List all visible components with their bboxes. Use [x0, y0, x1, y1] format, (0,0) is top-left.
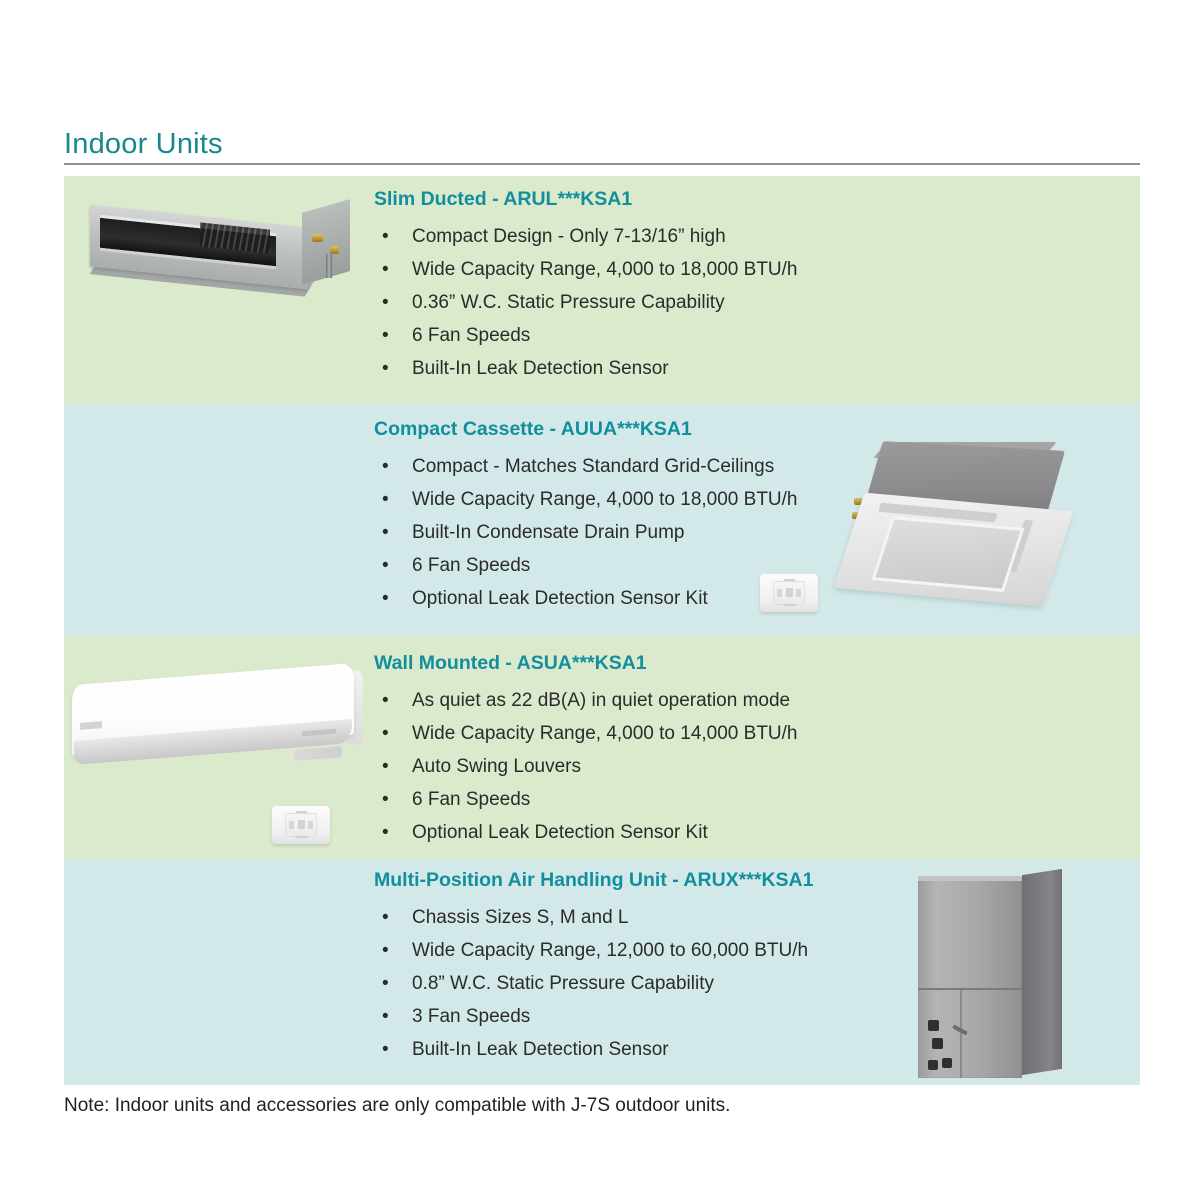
sensor-grille: [308, 821, 313, 829]
ducted-pipe: [326, 254, 332, 278]
bullet-icon: •: [382, 717, 389, 750]
handler-knockout: [928, 1020, 939, 1031]
section-content-slim-ducted: Slim Ducted - ARUL***KSA1 •Compact Desig…: [374, 188, 1074, 385]
feature-text: Wide Capacity Range, 4,000 to 14,000 BTU…: [412, 723, 798, 744]
sensor-grille: [289, 821, 294, 829]
compatibility-note: Note: Indoor units and accessories are o…: [64, 1095, 730, 1117]
handler-knockout: [928, 1060, 938, 1070]
leak-detection-sensor-kit-image: [760, 574, 818, 612]
feature-text: 3 Fan Speeds: [412, 1006, 530, 1027]
handler-knockout: [942, 1058, 952, 1068]
handler-door-edge: [960, 990, 962, 1078]
feature-text: Chassis Sizes S, M and L: [412, 907, 628, 928]
sensor-grille: [298, 820, 305, 829]
list-item: •Compact Design - Only 7-13/16” high: [374, 220, 1074, 253]
bullet-icon: •: [382, 253, 389, 286]
bullet-icon: •: [382, 1000, 389, 1033]
bullet-icon: •: [382, 582, 389, 615]
list-item: •Auto Swing Louvers: [374, 750, 1074, 783]
indoor-units-page: Indoor Units Slim Ducted - ARUL***KSA1 •…: [0, 0, 1200, 1200]
bullet-icon: •: [382, 816, 389, 849]
feature-list: •Compact Design - Only 7-13/16” high •Wi…: [374, 220, 1074, 385]
feature-text: 6 Fan Speeds: [412, 789, 530, 810]
air-handler-unit-image: [912, 870, 1087, 1085]
section-content-wall-mounted: Wall Mounted - ASUA***KSA1 •As quiet as …: [374, 652, 1074, 849]
list-item: •As quiet as 22 dB(A) in quiet operation…: [374, 684, 1074, 717]
bullet-icon: •: [382, 286, 389, 319]
handler-side-panel: [1022, 869, 1062, 1075]
feature-text: Compact Design - Only 7-13/16” high: [412, 226, 726, 247]
feature-text: Built-In Leak Detection Sensor: [412, 1039, 669, 1060]
cassette-panel-center: [872, 516, 1025, 592]
list-item: •6 Fan Speeds: [374, 783, 1074, 816]
bullet-icon: •: [382, 967, 389, 1000]
bullet-icon: •: [382, 450, 389, 483]
ducted-valve-icon: [330, 246, 339, 254]
bullet-icon: •: [382, 750, 389, 783]
sensor-vent: [295, 836, 308, 838]
list-item: •Built-In Leak Detection Sensor: [374, 352, 1074, 385]
feature-text: Wide Capacity Range, 4,000 to 18,000 BTU…: [412, 489, 798, 510]
list-item: •6 Fan Speeds: [374, 319, 1074, 352]
wall-mounted-unit-image: [66, 668, 371, 783]
feature-text: 0.36” W.C. Static Pressure Capability: [412, 292, 725, 313]
feature-text: As quiet as 22 dB(A) in quiet operation …: [412, 690, 790, 711]
sensor-grille: [786, 588, 793, 597]
feature-text: 6 Fan Speeds: [412, 555, 530, 576]
handler-seam: [918, 988, 1022, 990]
list-item: •0.36” W.C. Static Pressure Capability: [374, 286, 1074, 319]
feature-list: •As quiet as 22 dB(A) in quiet operation…: [374, 684, 1074, 849]
feature-text: 6 Fan Speeds: [412, 325, 530, 346]
section-title: Slim Ducted - ARUL***KSA1: [374, 188, 1074, 211]
bullet-icon: •: [382, 901, 389, 934]
bullet-icon: •: [382, 549, 389, 582]
feature-text: Optional Leak Detection Sensor Kit: [412, 588, 708, 609]
sensor-vent: [783, 604, 796, 606]
bullet-icon: •: [382, 352, 389, 385]
handler-knockout: [932, 1038, 943, 1049]
bullet-icon: •: [382, 783, 389, 816]
bullet-icon: •: [382, 483, 389, 516]
feature-text: Wide Capacity Range, 4,000 to 18,000 BTU…: [412, 259, 798, 280]
sensor-grille: [796, 589, 801, 597]
bullet-icon: •: [382, 1033, 389, 1066]
list-item: •Wide Capacity Range, 4,000 to 14,000 BT…: [374, 717, 1074, 750]
bullet-icon: •: [382, 220, 389, 253]
wallunit-display: [294, 746, 342, 761]
bullet-icon: •: [382, 319, 389, 352]
slim-ducted-unit-image: [80, 198, 365, 308]
bullet-icon: •: [382, 684, 389, 717]
ducted-valve-icon: [312, 234, 323, 242]
compact-cassette-unit-image: [828, 440, 1123, 615]
page-title: Indoor Units: [64, 128, 223, 161]
feature-text: Built-In Condensate Drain Pump: [412, 522, 684, 543]
bullet-icon: •: [382, 934, 389, 967]
bullet-icon: •: [382, 516, 389, 549]
feature-text: 0.8” W.C. Static Pressure Capability: [412, 973, 714, 994]
leak-detection-sensor-kit-image: [272, 806, 330, 844]
feature-text: Auto Swing Louvers: [412, 756, 581, 777]
list-item: •Wide Capacity Range, 4,000 to 18,000 BT…: [374, 253, 1074, 286]
feature-text: Compact - Matches Standard Grid-Ceilings: [412, 456, 774, 477]
title-divider: [64, 163, 1140, 165]
section-title: Compact Cassette - AUUA***KSA1: [374, 418, 1074, 441]
feature-text: Wide Capacity Range, 12,000 to 60,000 BT…: [412, 940, 808, 961]
feature-text: Optional Leak Detection Sensor Kit: [412, 822, 708, 843]
list-item: •Optional Leak Detection Sensor Kit: [374, 816, 1074, 849]
section-title: Wall Mounted - ASUA***KSA1: [374, 652, 1074, 675]
feature-text: Built-In Leak Detection Sensor: [412, 358, 669, 379]
sensor-grille: [777, 589, 782, 597]
handler-top-rim: [918, 876, 1022, 881]
